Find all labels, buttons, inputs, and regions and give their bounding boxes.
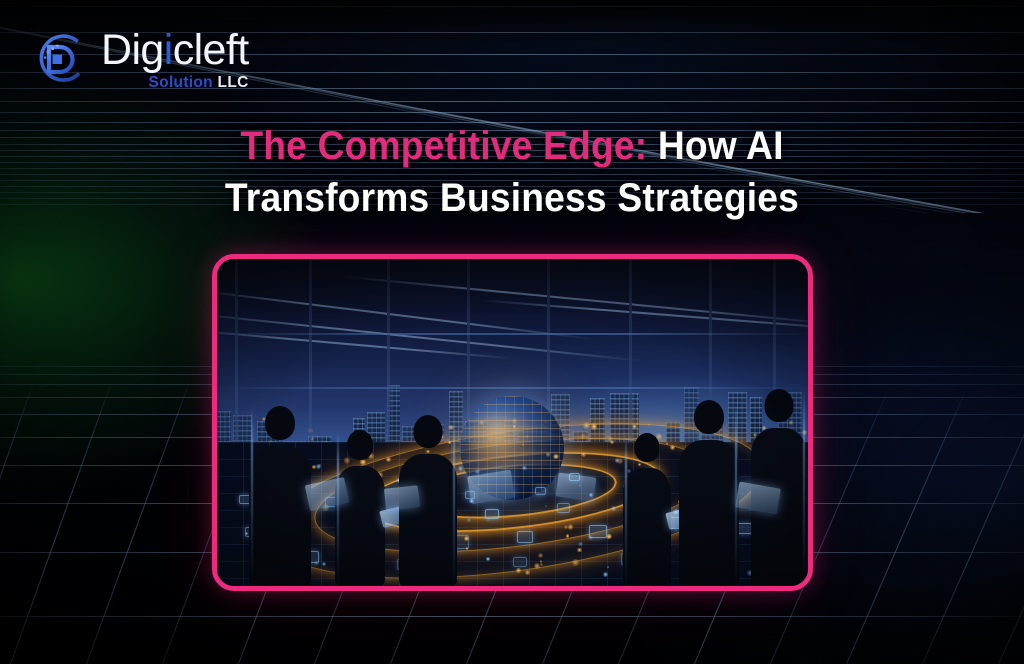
page-title-line-1-rest: How AI — [647, 124, 783, 168]
businessman-silhouette-left — [249, 406, 311, 586]
brand-name: Digicleft — [101, 29, 249, 72]
businessman-silhouette-right — [679, 400, 739, 586]
page-title-line-1: The Competitive Edge: How AI — [36, 120, 988, 172]
brand-name-seg2: cleft — [173, 26, 249, 74]
brand-tagline: Solution LLC — [101, 75, 249, 91]
hero-image-frame — [212, 254, 813, 591]
brand-tagline-solution: Solution — [149, 74, 213, 91]
page-title: The Competitive Edge: How AI Transforms … — [36, 120, 988, 224]
hero-image — [217, 259, 808, 586]
brand-name-i1: i — [164, 26, 173, 74]
page-title-line-2: Transforms Business Strategies — [36, 172, 988, 224]
brand-logo[interactable]: Digicleft Solution LLC — [30, 27, 249, 91]
digicleft-circular-d-logo-icon — [30, 28, 92, 90]
slide-canvas: Digicleft Solution LLC The Competitive E… — [0, 0, 1024, 664]
holographic-screen-panel — [384, 485, 420, 510]
brand-tagline-llc: LLC — [218, 74, 249, 91]
businesswoman-silhouette-left-center — [335, 430, 385, 586]
holographic-screen-panel — [556, 472, 597, 501]
businesswoman-silhouette-right-center — [623, 433, 671, 586]
brand-name-seg1: Dig — [101, 26, 164, 74]
page-title-accent: The Competitive Edge: — [240, 124, 647, 168]
brand-wordmark: Digicleft Solution LLC — [101, 27, 249, 91]
